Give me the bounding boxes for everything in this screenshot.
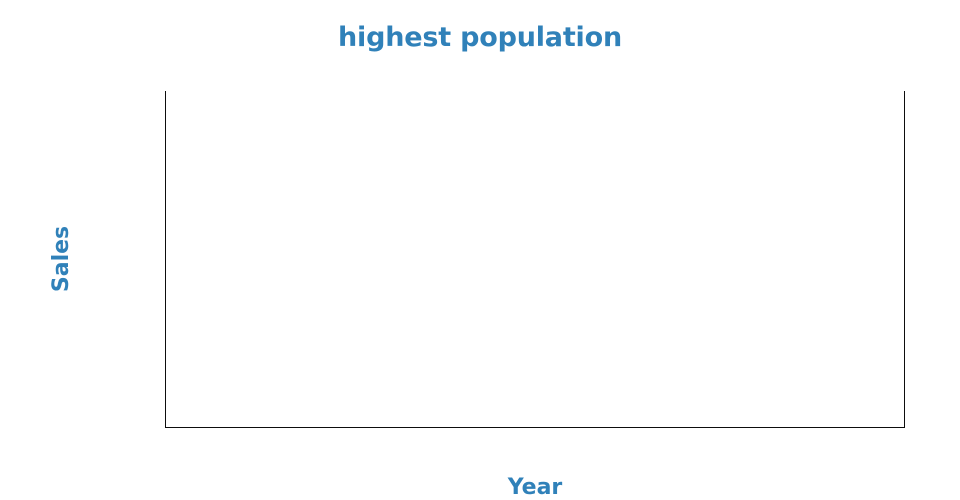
plot-canvas-empty bbox=[166, 91, 904, 427]
y-axis-label: Sales bbox=[51, 226, 73, 292]
x-axis-label: Year bbox=[508, 477, 563, 499]
chart-title: highest population bbox=[0, 24, 960, 51]
chart-figure: highest population Sales Year bbox=[0, 0, 960, 500]
plot-area bbox=[165, 91, 905, 428]
